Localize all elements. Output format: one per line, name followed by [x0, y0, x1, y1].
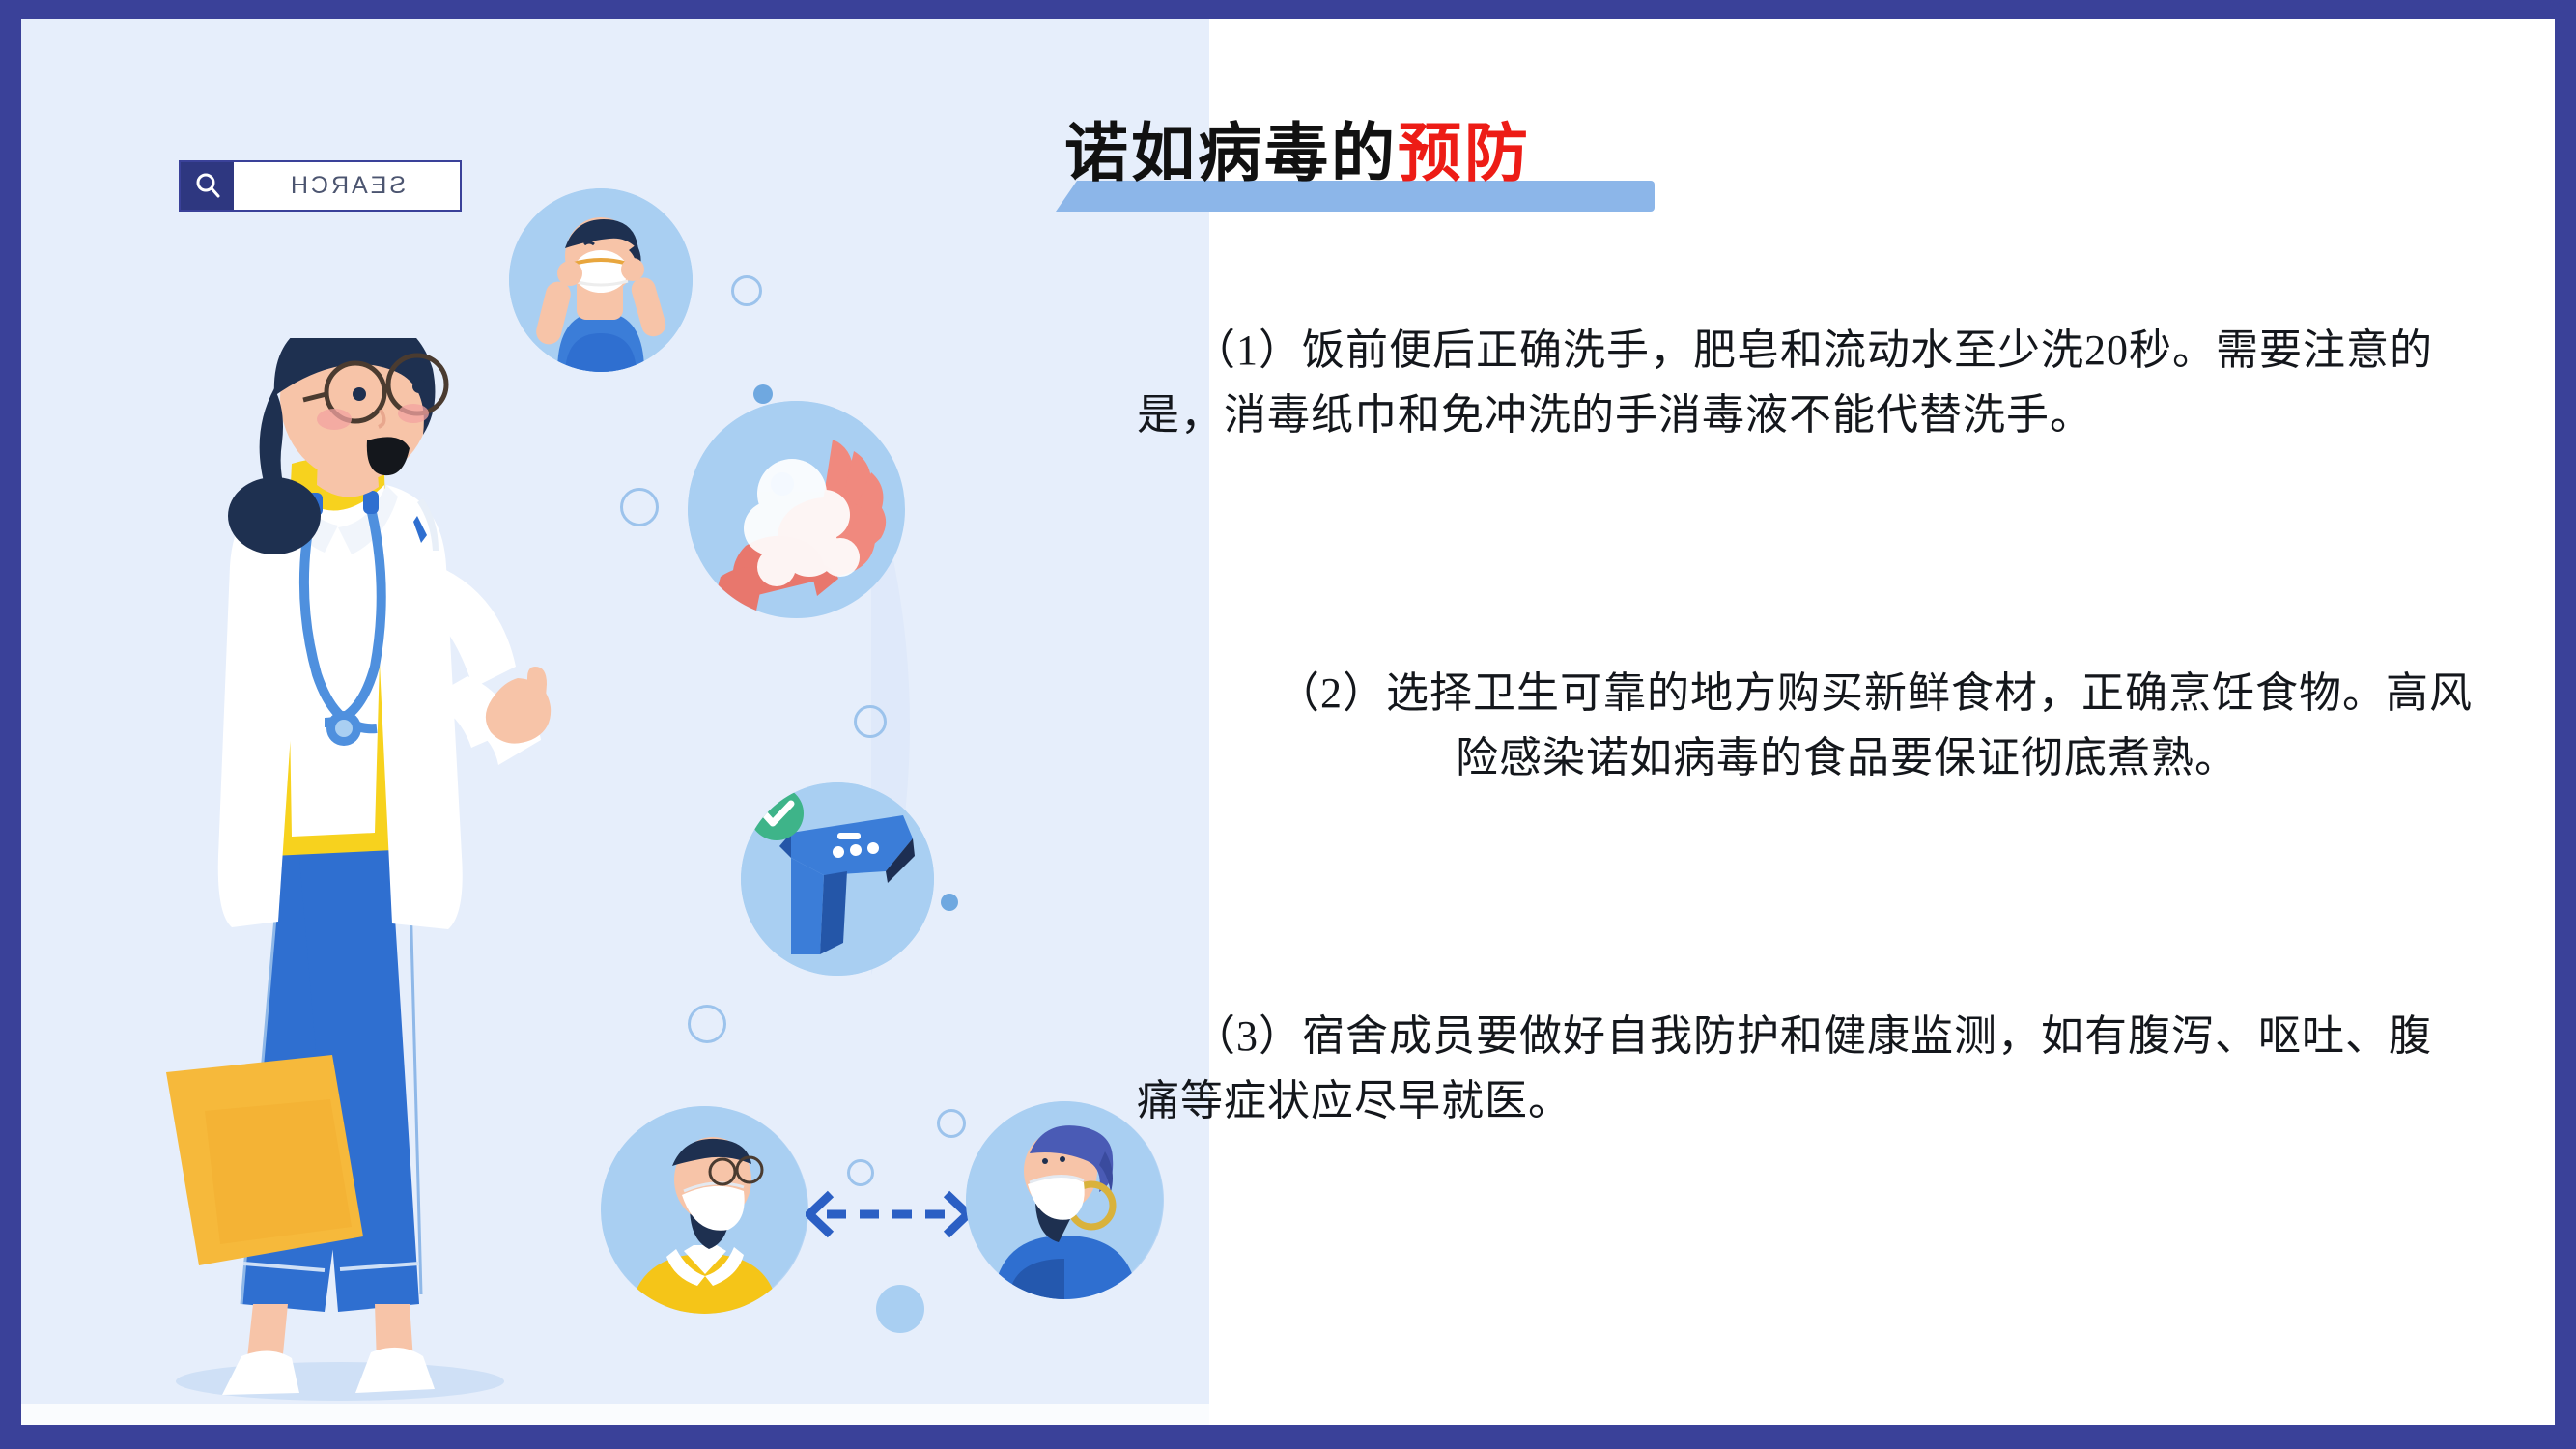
search-icon[interactable]: [181, 162, 234, 210]
icon-masked-woman-blue: [966, 1101, 1164, 1299]
paragraph-1: （1）饭前便后正确洗手，肥皂和流动水至少洗20秒。需要注意的是，消毒纸巾和免冲洗…: [1137, 319, 2460, 448]
paragraph-2: （2）选择卫生可靠的地方购买新鲜食材，正确烹饪食物。高风险感染诺如病毒的食品要保…: [1204, 662, 2489, 791]
search-box[interactable]: SEARCH: [179, 160, 462, 212]
decor-dot: [941, 894, 958, 911]
title-text: 诺如病毒的预防: [1064, 101, 1531, 194]
social-distance-dashed-arrow-icon: [806, 1190, 972, 1238]
decor-dot: [876, 1285, 924, 1333]
thermometer-svg: [741, 782, 934, 976]
doctor-illustration: [127, 338, 630, 1420]
decor-ring: [731, 275, 762, 306]
slide-frame: SEARCH 诺如病毒的预防 （1）饭前便后正确洗手，肥皂和流动水至少洗20秒。…: [0, 0, 2576, 1449]
title-accent: 预防: [1398, 117, 1531, 188]
decor-ring: [847, 1159, 874, 1186]
page-title: 诺如病毒的预防: [1055, 101, 2117, 227]
icon-masked-man-yellow: [601, 1106, 808, 1314]
decor-dot: [753, 384, 773, 404]
decor-ring: [688, 1005, 726, 1043]
masked-woman-svg: [966, 1101, 1164, 1299]
masked-man-svg: [601, 1106, 808, 1314]
handwash-svg: [688, 401, 905, 618]
decor-ring: [854, 705, 887, 738]
decor-ring: [937, 1109, 966, 1138]
paragraph-3: （3）宿舍成员要做好自我防护和健康监测，如有腹泻、呕吐、腹痛等症状应尽早就医。: [1137, 1005, 2460, 1134]
search-input[interactable]: SEARCH: [234, 162, 460, 210]
slide-inner-canvas: SEARCH 诺如病毒的预防 （1）饭前便后正确洗手，肥皂和流动水至少洗20秒。…: [21, 19, 2555, 1425]
title-main: 诺如病毒的: [1064, 117, 1398, 188]
magnifier-glyph: [193, 172, 222, 201]
illustration-panel: SEARCH: [21, 19, 1209, 1425]
panel-bottom-strip: [21, 1404, 1209, 1425]
icon-washing-hands: [688, 401, 905, 618]
icon-infrared-thermometer: [741, 782, 934, 976]
